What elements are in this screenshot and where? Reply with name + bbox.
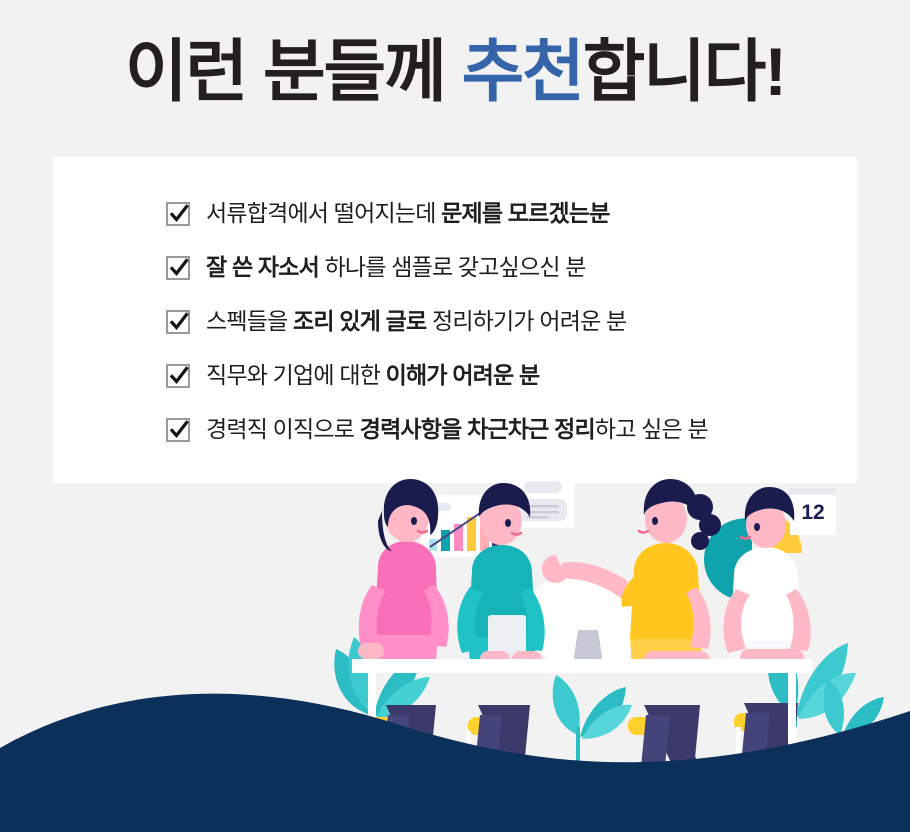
list-item: 잘 쓴 자소서 하나를 샘플로 갖고싶으신 분 [166, 241, 856, 295]
calendar-card: 12 [790, 488, 836, 535]
checkbox-checked-icon [166, 364, 190, 388]
list-item: 스펙들을 조리 있게 글로 정리하기가 어려운 분 [166, 295, 856, 349]
team-meeting-illustration: 12 [0, 455, 910, 832]
segment-bold: 잘 쓴 자소서 [206, 254, 319, 280]
segment-normal: 직무와 기업에 대한 [206, 362, 386, 388]
checkbox-checked-icon [166, 256, 190, 280]
title-part-1: 이런 분들께 [125, 34, 462, 110]
page-title: 이런 분들께 추천합니다! [0, 38, 910, 106]
recommendation-list: 서류합격에서 떨어지는데 문제를 모르겠는분 잘 쓴 자소서 하나를 샘플로 갖… [166, 187, 856, 457]
segment-normal: 하나를 샘플로 갖고싶으신 분 [319, 254, 586, 280]
checkbox-checked-icon [166, 202, 190, 226]
list-item-label: 직무와 기업에 대한 이해가 어려운 분 [206, 363, 539, 388]
segment-bold: 문제를 모르겠는분 [441, 200, 609, 226]
segment-normal: 서류합격에서 떨어지는데 [206, 200, 441, 226]
segment-normal-2: 하고 싶은 분 [595, 416, 708, 442]
checkbox-checked-icon [166, 310, 190, 334]
checkbox-checked-icon [166, 418, 190, 442]
list-item-label: 경력직 이직으로 경력사항을 차근차근 정리하고 싶은 분 [206, 417, 708, 442]
list-item: 서류합격에서 떨어지는데 문제를 모르겠는분 [166, 187, 856, 241]
promo-page: 이런 분들께 추천합니다! 서류합격에서 떨어지는데 문제를 모르겠는분 잘 쓴… [0, 0, 910, 832]
title-part-highlight: 추천 [462, 34, 583, 110]
segment-normal-2: 정리하기가 어려운 분 [426, 308, 626, 334]
segment-bold: 이해가 어려운 분 [386, 362, 540, 388]
recommendation-card: 서류합격에서 떨어지는데 문제를 모르겠는분 잘 쓴 자소서 하나를 샘플로 갖… [53, 157, 857, 483]
list-item-label: 스펙들을 조리 있게 글로 정리하기가 어려운 분 [206, 309, 626, 334]
page-title-text: 이런 분들께 추천합니다! [125, 38, 785, 106]
segment-bold: 경력사항을 차근차근 정리 [360, 416, 595, 442]
list-item-label: 서류합격에서 떨어지는데 문제를 모르겠는분 [206, 201, 610, 226]
title-part-3: 합니다! [583, 34, 785, 110]
list-item: 경력직 이직으로 경력사항을 차근차근 정리하고 싶은 분 [166, 403, 856, 457]
segment-bold: 조리 있게 글로 [293, 308, 426, 334]
calendar-day-label: 12 [801, 501, 824, 524]
list-item: 직무와 기업에 대한 이해가 어려운 분 [166, 349, 856, 403]
list-item-label: 잘 쓴 자소서 하나를 샘플로 갖고싶으신 분 [206, 255, 586, 280]
segment-normal: 스펙들을 [206, 308, 293, 334]
segment-normal: 경력직 이직으로 [206, 416, 360, 442]
